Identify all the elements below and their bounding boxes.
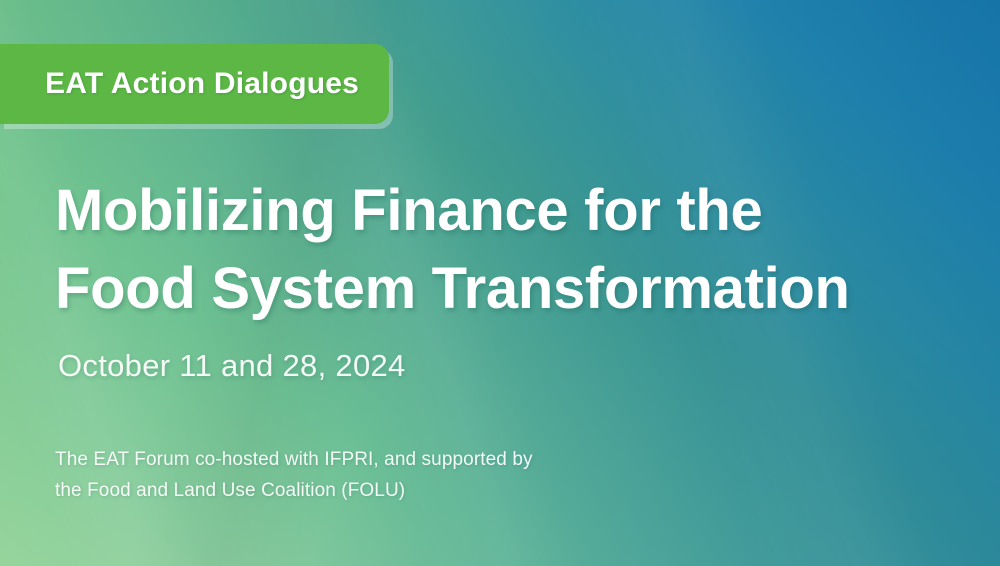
event-banner: EAT Action Dialogues Mobilizing Finance …	[0, 0, 1000, 566]
banner-title: Mobilizing Finance for the Food System T…	[55, 172, 955, 328]
banner-title-line-1: Mobilizing Finance for the	[55, 172, 955, 250]
series-badge-label: EAT Action Dialogues	[45, 67, 359, 101]
banner-title-line-2: Food System Transformation	[55, 250, 955, 328]
event-date: October 11 and 28, 2024	[58, 348, 406, 384]
banner-footer: The EAT Forum co-hosted with IFPRI, and …	[55, 444, 815, 506]
series-badge: EAT Action Dialogues	[0, 44, 389, 124]
banner-footer-line-1: The EAT Forum co-hosted with IFPRI, and …	[55, 444, 815, 475]
banner-footer-line-2: the Food and Land Use Coalition (FOLU)	[55, 475, 815, 506]
banner-content: EAT Action Dialogues Mobilizing Finance …	[0, 0, 1000, 566]
